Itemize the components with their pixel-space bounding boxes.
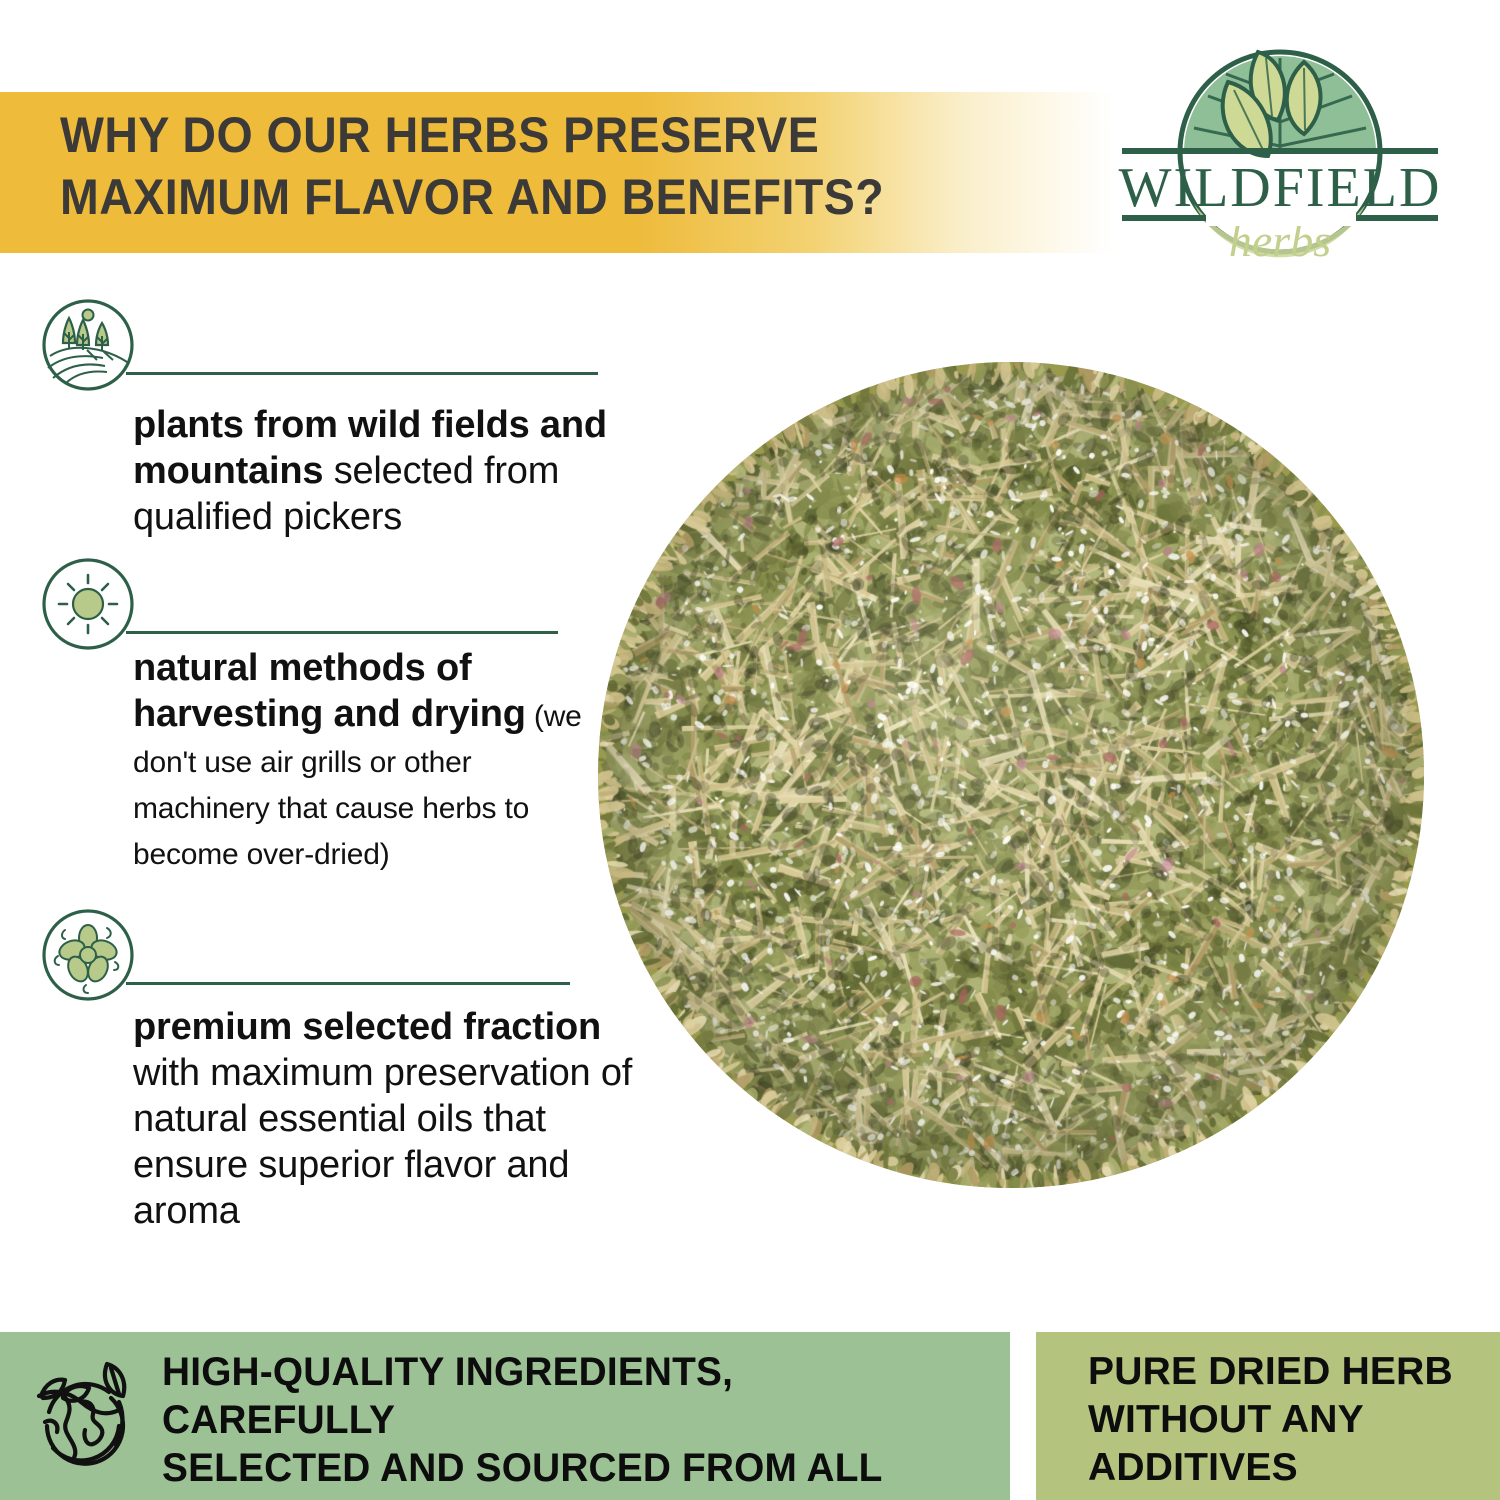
feature-text-bold: natural methods of harvesting and drying xyxy=(133,647,526,735)
feature-rule xyxy=(126,982,570,985)
feature-text: plants from wild fields and mountains se… xyxy=(133,402,653,540)
infographic-page: WHY DO OUR HERBS PRESERVE MAXIMUM FLAVOR… xyxy=(0,0,1500,1500)
page-title: WHY DO OUR HERBS PRESERVE MAXIMUM FLAVOR… xyxy=(60,104,990,228)
sun-icon xyxy=(41,557,135,651)
feature-rule xyxy=(126,631,558,634)
feature-text-bold: premium selected fraction xyxy=(133,1006,601,1048)
field-trees-icon xyxy=(41,298,135,392)
globe-leaf-icon xyxy=(33,1352,141,1480)
feature-text: premium selected fraction with maximum p… xyxy=(133,1004,663,1234)
flower-drops-icon xyxy=(41,908,135,1002)
feature-text-rest: with maximum preservation of natural ess… xyxy=(133,1052,632,1232)
svg-text:WILDFIELD: WILDFIELD xyxy=(1119,157,1442,219)
dried-herb-pile-image xyxy=(598,362,1424,1188)
banner-right-text: PURE DRIED HERB WITHOUT ANY ADDITIVES xyxy=(1088,1348,1488,1492)
brand-logo: WILDFIELD herbs WILDFIELD herbs xyxy=(1108,34,1452,279)
banner-left-text: HIGH-QUALITY INGREDIENTS, CAREFULLY SELE… xyxy=(162,1348,967,1500)
feature-rule xyxy=(126,372,598,375)
feature-text: natural methods of harvesting and drying… xyxy=(133,645,603,875)
